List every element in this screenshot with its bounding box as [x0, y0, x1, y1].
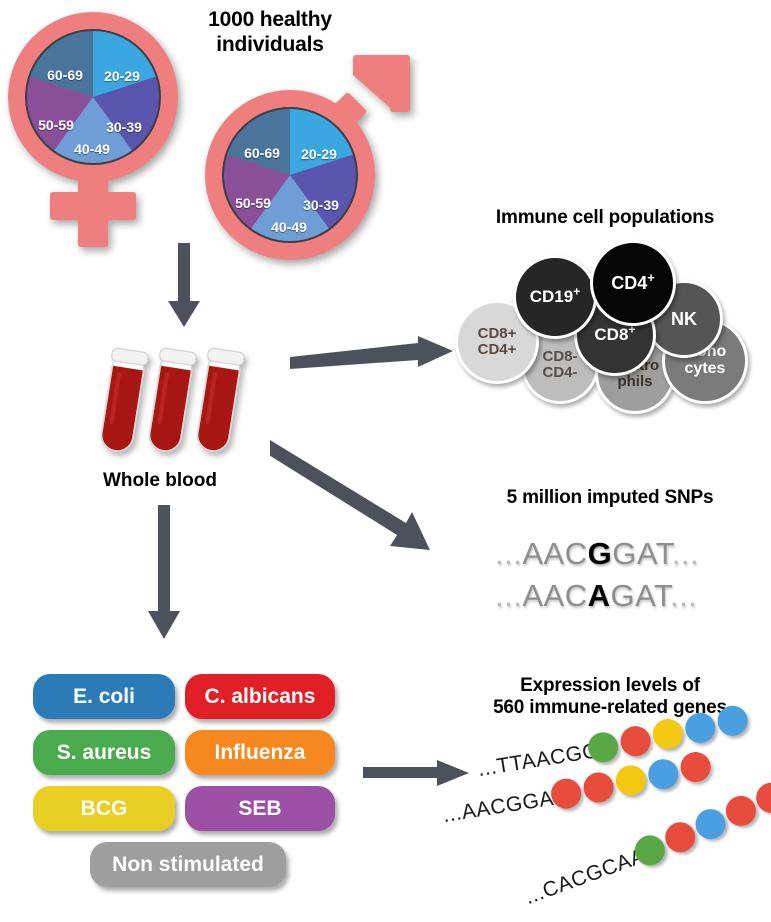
stimulus-pill-influenza[interactable]: Influenza — [185, 730, 335, 775]
immune-cell-nk-label: NK — [671, 310, 697, 329]
male-age-label-30-39: 30-39 — [303, 197, 339, 213]
male-age-label-50-59: 50-59 — [235, 195, 271, 211]
arrow-cohort-to-blood — [160, 243, 210, 333]
immune-cell-cd8-pos-label: CD8 — [594, 325, 628, 344]
immune-cell-cd8-cd4-pos-line2: CD4+ — [478, 341, 517, 358]
arrow-blood-to-snp — [270, 440, 450, 555]
immune-title: Immune cell populations — [440, 207, 770, 229]
snp-row1-suffix: ... — [672, 536, 699, 571]
immune-cell-neutrophils-line2: phils — [617, 373, 652, 390]
expression-title-line1: Expression levels of — [450, 675, 770, 697]
stimulus-pill-e-coli[interactable]: E. coli — [33, 674, 175, 719]
immune-cell-cd8-cd4-neg-line1: CD8- — [542, 348, 577, 365]
stimulus-pill-non-stimulated[interactable]: Non stimulated — [90, 842, 286, 887]
immune-cell-monocytes-line2: cytes — [685, 360, 726, 377]
male-age-label-20-29: 20-29 — [301, 146, 337, 162]
snp-row2-variant: A — [588, 578, 611, 613]
female-age-pie: 20-29 30-39 40-49 50-59 60-69 — [25, 29, 161, 165]
female-age-label-40-49: 40-49 — [74, 141, 110, 157]
expression-strand-3-sequence: ...CACGCAA — [522, 844, 649, 910]
snp-row2-prefix: ... — [495, 578, 522, 613]
snp-sequence-row-1: ...AACGGAT... — [495, 536, 699, 572]
female-symbol: 20-29 30-39 40-49 50-59 60-69 — [8, 12, 208, 247]
immune-cell-cd4-pos-label: CD4 — [611, 273, 647, 293]
immune-cell-cd8-cd4-neg-line2: CD4- — [542, 364, 577, 381]
expression-strand-2-sequence: ...AACGGAT — [441, 785, 567, 828]
female-age-label-60-69: 60-69 — [47, 67, 83, 83]
arrow-blood-to-immune — [290, 335, 455, 380]
immune-cell-cd4-pos: CD4+ — [590, 240, 676, 326]
female-age-label-20-29: 20-29 — [104, 68, 140, 84]
female-age-label-30-39: 30-39 — [106, 119, 142, 135]
immune-cell-cluster: CD8- CD4- CD8+ CD4+ Neutro phils Mono cy… — [455, 240, 765, 415]
male-age-pie: 20-29 30-39 40-49 50-59 60-69 — [222, 107, 358, 243]
stimulus-pill-bcg[interactable]: BCG — [33, 786, 175, 831]
immune-cell-cd19-pos-sup: + — [573, 284, 580, 298]
expression-strand-1-bead-3 — [651, 717, 685, 751]
snp-row1-variant: G — [588, 536, 613, 571]
expression-strand-1-bead-2 — [618, 724, 652, 758]
snp-row1-left: AAC — [522, 536, 587, 571]
stimulus-pill-seb[interactable]: SEB — [185, 786, 335, 831]
expression-strand-2-bead-2 — [581, 770, 615, 804]
stimulus-pill-c-albicans[interactable]: C. albicans — [185, 674, 335, 719]
expression-strand-3-bead-2 — [661, 818, 699, 856]
snp-row1-right: GAT — [612, 536, 672, 571]
snp-row1-prefix: ... — [495, 536, 522, 571]
snp-row2-left: AAC — [522, 578, 587, 613]
snp-title: 5 million imputed SNPs — [450, 487, 770, 509]
immune-cell-cd4-pos-sup: + — [647, 270, 655, 285]
male-age-label-40-49: 40-49 — [271, 219, 307, 235]
immune-cell-cd19-pos: CD19+ — [513, 255, 597, 339]
male-symbol: 20-29 30-39 40-49 50-59 60-69 — [205, 55, 415, 260]
male-age-label-60-69: 60-69 — [244, 145, 280, 161]
snp-sequence-row-2: ...AACAGAT... — [495, 578, 697, 614]
figure-canvas: 1000 healthy individuals 20-29 30-39 40-… — [0, 0, 771, 922]
whole-blood-label: Whole blood — [85, 470, 235, 492]
female-symbol-crossbar — [50, 192, 136, 220]
immune-cell-cd8-cd4-pos-line1: CD8+ — [478, 325, 517, 342]
snp-row2-right: GAT — [610, 578, 670, 613]
blood-tubes — [95, 340, 275, 465]
arrow-stimuli-to-expression — [363, 758, 473, 790]
arrow-blood-to-stimuli — [140, 505, 190, 645]
snp-row2-suffix: ... — [670, 578, 697, 613]
immune-cell-cd19-pos-label: CD19 — [530, 287, 573, 306]
stimulus-pill-s-aureus[interactable]: S. aureus — [33, 730, 175, 775]
female-age-label-50-59: 50-59 — [38, 117, 74, 133]
